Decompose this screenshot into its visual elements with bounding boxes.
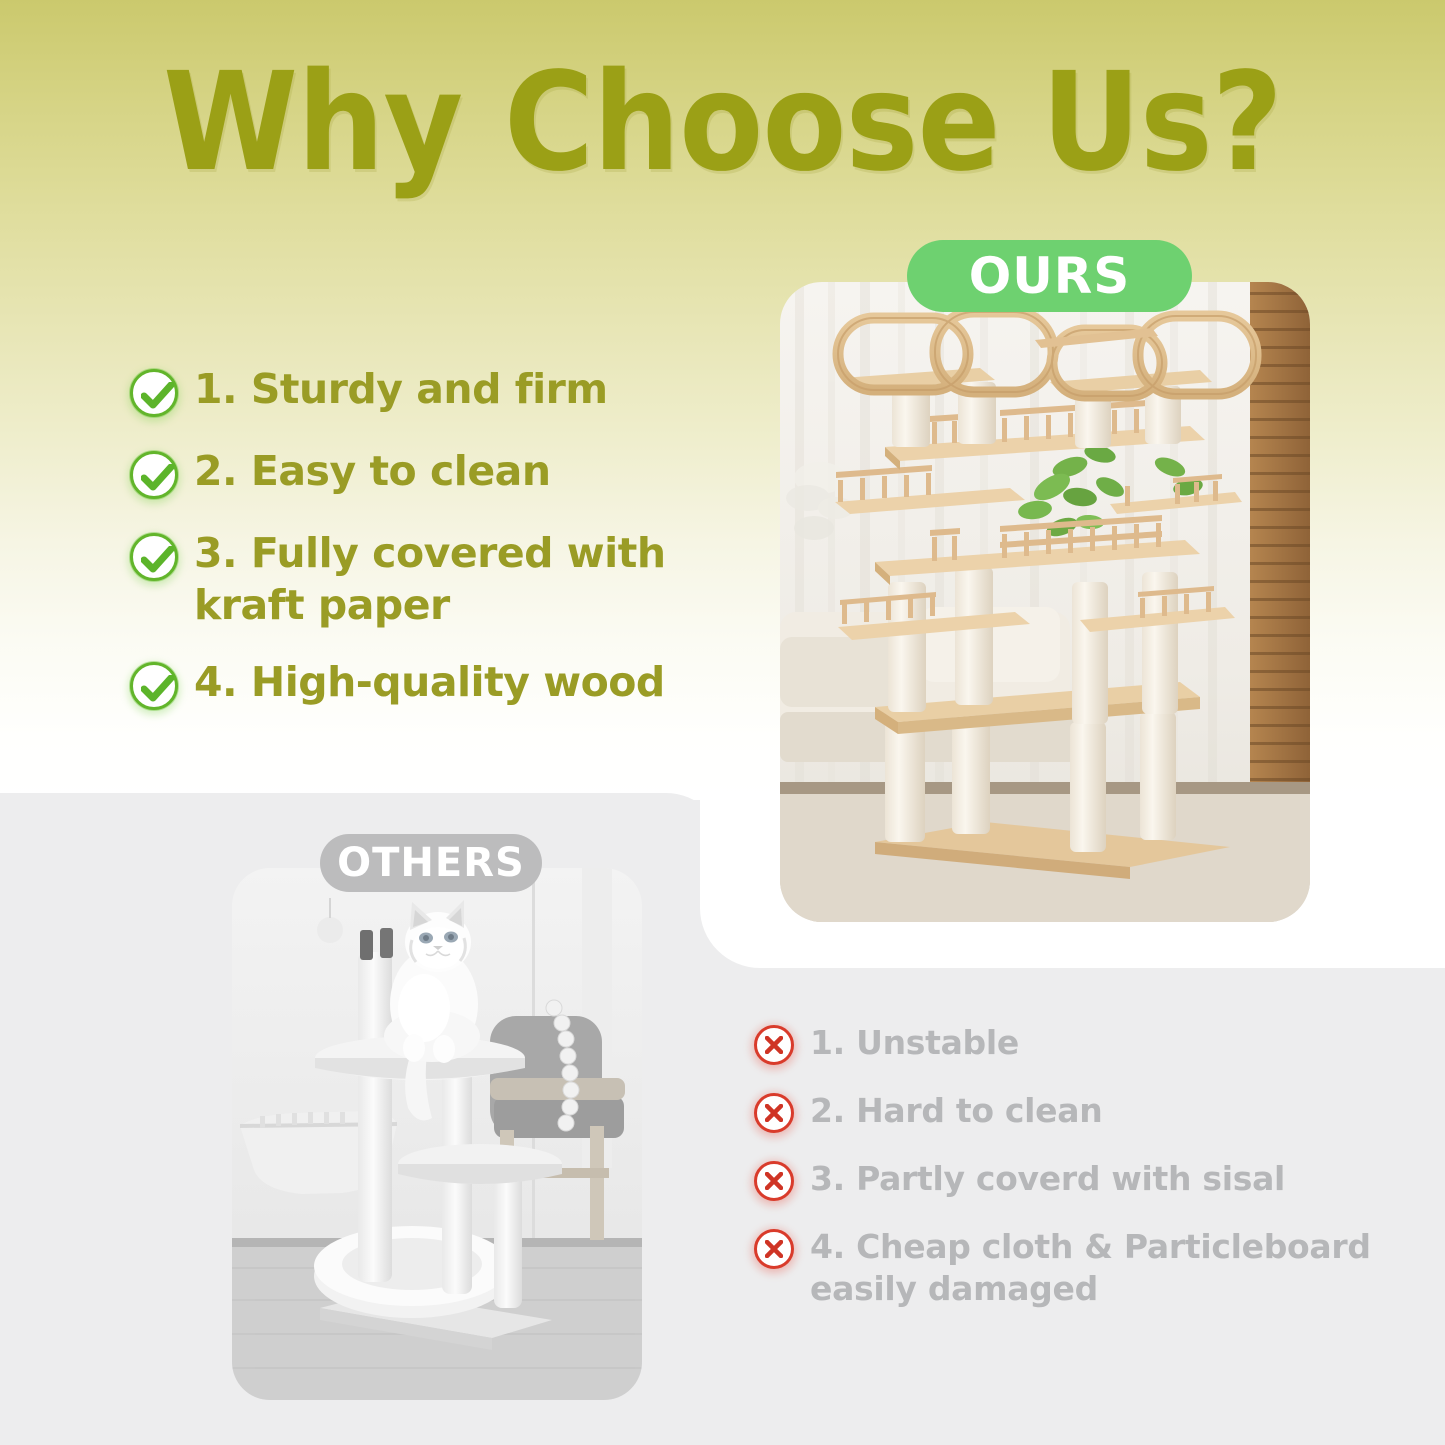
pros-list: 1. Sturdy and firm 2. Easy to clean	[128, 364, 748, 713]
list-item: 4. High-quality wood	[128, 657, 748, 713]
pro-item-label: 1. Sturdy and firm	[194, 364, 608, 416]
page-title: Why Choose Us?	[72, 55, 1373, 191]
x-circle-icon	[752, 1228, 796, 1272]
list-item: 1. Unstable	[752, 1022, 1412, 1068]
x-ring	[754, 1161, 794, 1201]
check-circle-icon	[128, 532, 180, 584]
check-glyph	[141, 464, 174, 492]
check-circle-icon	[128, 661, 180, 713]
check-glyph	[141, 382, 174, 410]
pro-item-label: 4. High-quality wood	[194, 657, 665, 709]
check-circle-icon	[128, 368, 180, 420]
check-glyph	[141, 675, 174, 703]
ours-photo-illustration	[780, 282, 1310, 922]
check-ring	[130, 451, 178, 499]
x-glyph	[765, 1240, 783, 1258]
others-photo-illustration	[232, 868, 642, 1400]
check-ring	[130, 662, 178, 710]
x-glyph	[765, 1172, 783, 1190]
con-item-label: 1. Unstable	[810, 1022, 1019, 1064]
x-glyph	[765, 1104, 783, 1122]
ours-product-photo	[780, 282, 1310, 922]
badge-others: OTHERS	[320, 834, 542, 892]
x-circle-icon	[752, 1160, 796, 1204]
x-ring	[754, 1025, 794, 1065]
check-glyph	[141, 546, 174, 574]
list-item: 3. Fully covered with kraft paper	[128, 528, 748, 631]
others-product-photo	[232, 868, 642, 1400]
x-circle-icon	[752, 1024, 796, 1068]
pro-item-label: 2. Easy to clean	[194, 446, 551, 498]
con-item-label: 3. Partly coverd with sisal	[810, 1158, 1285, 1200]
con-item-label: 2. Hard to clean	[810, 1090, 1102, 1132]
x-ring	[754, 1229, 794, 1269]
list-item: 4. Cheap cloth & Particleboard easily da…	[752, 1226, 1412, 1310]
badge-ours: OURS	[907, 240, 1192, 312]
list-item: 3. Partly coverd with sisal	[752, 1158, 1412, 1204]
check-circle-icon	[128, 450, 180, 502]
cons-list: 1. Unstable 2. Hard to clean	[752, 1022, 1412, 1310]
check-ring	[130, 369, 178, 417]
x-glyph	[765, 1036, 783, 1054]
x-ring	[754, 1093, 794, 1133]
list-item: 1. Sturdy and firm	[128, 364, 748, 420]
pro-item-label: 3. Fully covered with kraft paper	[194, 528, 734, 631]
x-circle-icon	[752, 1092, 796, 1136]
promo-graphic: Why Choose Us? 1. Sturdy and firm	[0, 0, 1445, 1445]
check-ring	[130, 533, 178, 581]
list-item: 2. Easy to clean	[128, 446, 748, 502]
con-item-label: 4. Cheap cloth & Particleboard easily da…	[810, 1226, 1410, 1310]
list-item: 2. Hard to clean	[752, 1090, 1412, 1136]
